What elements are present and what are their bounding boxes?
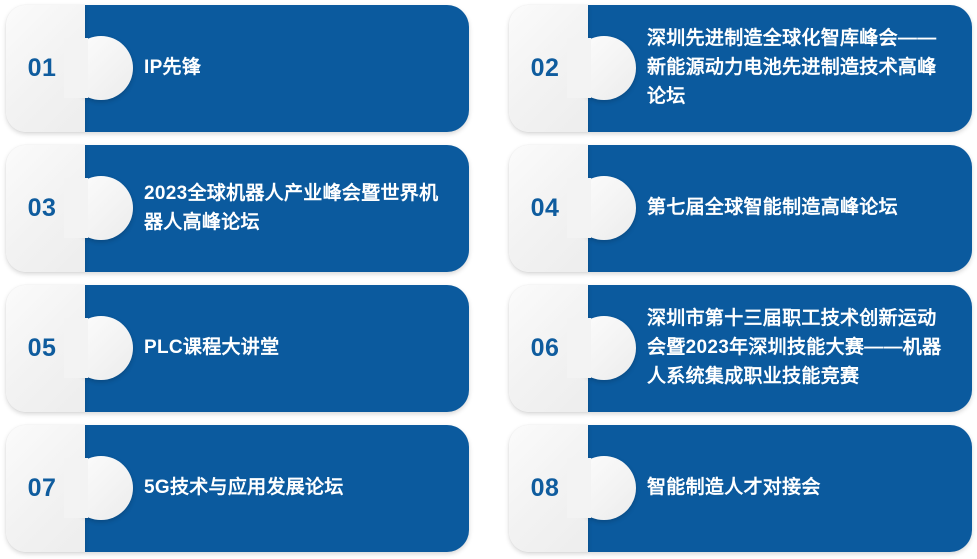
card-title: IP先锋: [144, 54, 201, 83]
card-title: 2023全球机器人产业峰会暨世界机器人高峰论坛: [144, 180, 442, 238]
card-number: 04: [509, 145, 581, 272]
card-title: PLC课程大讲堂: [144, 334, 279, 363]
card-title: 第七届全球智能制造高峰论坛: [647, 194, 898, 223]
card-number: 03: [6, 145, 78, 272]
card-title: 深圳市第十三届职工技术创新运动会暨2023年深圳技能大赛——机器人系统集成职业技…: [647, 305, 945, 392]
puzzle-card-06[interactable]: 06 深圳市第十三届职工技术创新运动会暨2023年深圳技能大赛——机器人系统集成…: [509, 285, 972, 412]
puzzle-card-07[interactable]: 07 5G技术与应用发展论坛: [6, 425, 469, 552]
card-title-wrap: IP先锋: [144, 5, 442, 132]
card-number: 07: [6, 425, 78, 552]
puzzle-card-05[interactable]: 05 PLC课程大讲堂: [6, 285, 469, 412]
card-number: 08: [509, 425, 581, 552]
puzzle-card-02[interactable]: 02 深圳先进制造全球化智库峰会——新能源动力电池先进制造技术高峰论坛: [509, 5, 972, 132]
card-title-wrap: 第七届全球智能制造高峰论坛: [647, 145, 945, 272]
card-title-wrap: 2023全球机器人产业峰会暨世界机器人高峰论坛: [144, 145, 442, 272]
puzzle-card-01[interactable]: 01 IP先锋: [6, 5, 469, 132]
card-title-wrap: 智能制造人才对接会: [647, 425, 945, 552]
card-number: 05: [6, 285, 78, 412]
card-title: 5G技术与应用发展论坛: [144, 474, 344, 503]
card-number: 06: [509, 285, 581, 412]
card-title-wrap: 深圳市第十三届职工技术创新运动会暨2023年深圳技能大赛——机器人系统集成职业技…: [647, 285, 945, 412]
puzzle-list-board: 01 IP先锋 02 深圳先进制造全球化智库峰会——新能源动力电池先进制造技术高…: [0, 0, 977, 559]
card-title-wrap: 深圳先进制造全球化智库峰会——新能源动力电池先进制造技术高峰论坛: [647, 5, 945, 132]
card-title: 深圳先进制造全球化智库峰会——新能源动力电池先进制造技术高峰论坛: [647, 25, 945, 112]
puzzle-card-04[interactable]: 04 第七届全球智能制造高峰论坛: [509, 145, 972, 272]
puzzle-card-08[interactable]: 08 智能制造人才对接会: [509, 425, 972, 552]
card-number: 01: [6, 5, 78, 132]
card-title-wrap: 5G技术与应用发展论坛: [144, 425, 442, 552]
card-number: 02: [509, 5, 581, 132]
puzzle-card-03[interactable]: 03 2023全球机器人产业峰会暨世界机器人高峰论坛: [6, 145, 469, 272]
card-title: 智能制造人才对接会: [647, 474, 821, 503]
card-title-wrap: PLC课程大讲堂: [144, 285, 442, 412]
